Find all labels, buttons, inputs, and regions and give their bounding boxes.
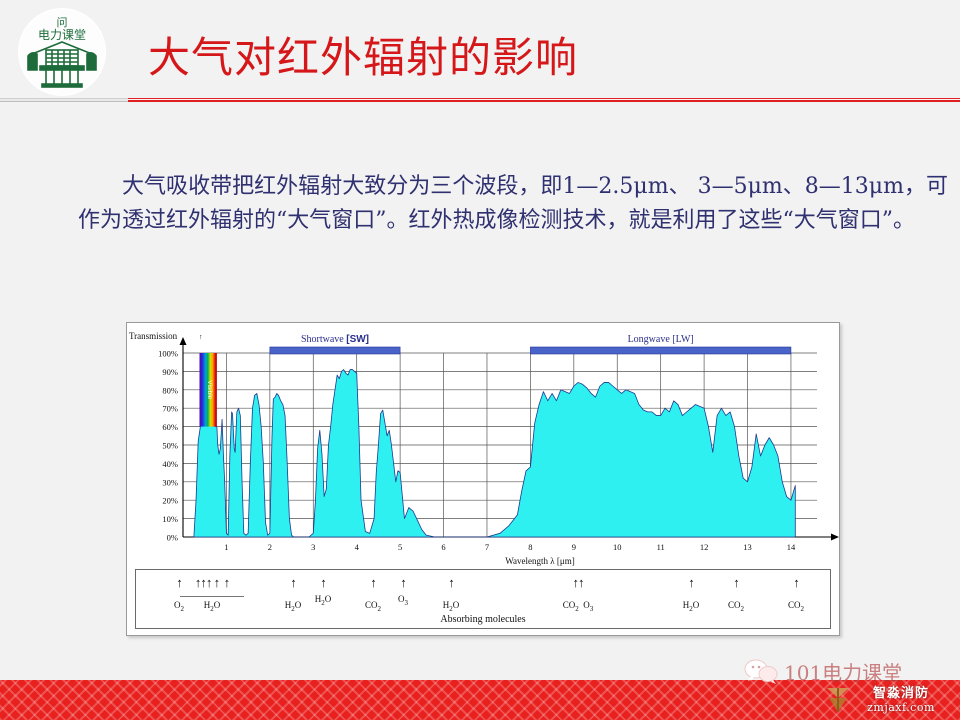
molecule-label: CO2 [721, 600, 751, 615]
body-paragraph: 大气吸收带把红外辐射大致分为三个波段，即1—2.5μm、 3—5μm、8—13μ… [78, 170, 948, 238]
transmission-chart-svg: 0%10%20%30%40%50%60%70%80%90%100%1234567… [127, 323, 839, 571]
arrow-icon: ↑ [721, 576, 751, 589]
atmospheric-transmission-figure: 0%10%20%30%40%50%60%70%80%90%100%1234567… [126, 322, 840, 636]
svg-text:70%: 70% [162, 404, 178, 414]
svg-text:2: 2 [268, 542, 272, 552]
svg-text:40%: 40% [162, 459, 178, 469]
svg-text:3: 3 [311, 542, 315, 552]
molecule-label: H2O [308, 594, 338, 609]
svg-text:14: 14 [787, 542, 796, 552]
molecule-label: H2O [278, 600, 308, 615]
page-title: 大气对红外辐射的影响 [148, 34, 578, 82]
molecule-label: H2O [182, 600, 242, 615]
arrow-icon: ↑ [781, 576, 811, 589]
molecule-label: CO2 O3 [556, 600, 600, 615]
molecule-marker-co2-3: ↑ CO2 [781, 576, 811, 615]
arrow-icon: ↑ [388, 576, 418, 589]
molecule-marker-h2o-3: ↑ H2O [308, 576, 338, 609]
svg-text:4: 4 [355, 542, 360, 552]
svg-text:12: 12 [700, 542, 709, 552]
molecule-marker-co2-2: ↑ CO2 [721, 576, 751, 615]
molecule-marker-o3-1: ↑ O3 [388, 576, 418, 609]
slide-header: 问 电力课堂 大气对红外辐射的影响 [0, 0, 960, 104]
svg-text:6: 6 [441, 542, 445, 552]
svg-text:Visible: Visible [206, 380, 213, 399]
molecule-marker-h2o-5: ↑ H2O [676, 576, 706, 615]
absorbing-molecules-caption: Absorbing molecules [136, 614, 830, 625]
svg-text:30%: 30% [162, 477, 178, 487]
absorbing-molecules-box: Absorbing molecules ↑ O2 ↑↑↑ ↑ ↑ H2O ↑ H… [135, 569, 831, 629]
svg-text:80%: 80% [162, 385, 178, 395]
arrow-icon: ↑ [436, 576, 466, 589]
arrow-icon: ↑↑↑ ↑ ↑ [182, 576, 242, 589]
svg-text:7: 7 [485, 542, 489, 552]
molecule-marker-h2o-group: ↑↑↑ ↑ ↑ H2O [182, 576, 242, 615]
arrow-icon: ↑ [278, 576, 308, 589]
arrow-icon: ↑↑ [556, 576, 600, 589]
institution-logo: 问 电力课堂 [12, 6, 112, 98]
molecule-label: CO2 [781, 600, 811, 615]
arrow-icon: ↑ [308, 576, 338, 589]
svg-text:10: 10 [613, 542, 622, 552]
svg-text:Longwave [LW]: Longwave [LW] [628, 334, 694, 345]
molecule-label: CO2 [358, 600, 388, 615]
watermark-url: zmjaxf.com [845, 701, 957, 714]
svg-text:90%: 90% [162, 367, 178, 377]
svg-text:5: 5 [398, 542, 402, 552]
molecule-marker-co2-1: ↑ CO2 [358, 576, 388, 615]
svg-text:11: 11 [657, 542, 665, 552]
molecule-marker-h2o-4: ↑ H2O [436, 576, 466, 615]
svg-text:9: 9 [572, 542, 576, 552]
molecule-label: O3 [388, 594, 418, 609]
svg-text:Shortwave [SW]: Shortwave [SW] [301, 334, 369, 345]
arrow-icon: ↑ [676, 576, 706, 589]
svg-text:100%: 100% [158, 349, 178, 359]
header-divider-red [128, 98, 960, 102]
transmission-chart: 0%10%20%30%40%50%60%70%80%90%100%1234567… [127, 323, 839, 571]
svg-text:60%: 60% [162, 422, 178, 432]
svg-text:Wavelength λ [μm]: Wavelength λ [μm] [505, 556, 574, 566]
watermark-title: 智淼消防 [845, 682, 957, 701]
molecule-marker-co2-o3: ↑↑ CO2 O3 [556, 576, 600, 615]
paragraph-text: 大气吸收带把红外辐射大致分为三个波段，即1—2.5μm、 3—5μm、8—13μ… [78, 174, 948, 233]
svg-text:电力课堂: 电力课堂 [38, 28, 86, 42]
svg-text:13: 13 [743, 542, 752, 552]
arrow-icon: ↑ [358, 576, 388, 589]
svg-text:Transmission: Transmission [129, 331, 178, 341]
svg-text:10%: 10% [162, 514, 178, 524]
molecule-marker-h2o-2: ↑ H2O [278, 576, 308, 615]
svg-text:8: 8 [528, 542, 532, 552]
wechat-icon [744, 658, 778, 684]
svg-text:0%: 0% [167, 533, 178, 543]
watermark-logo-icon [823, 684, 853, 716]
site-watermark: 智淼消防 zmjaxf.com [845, 682, 957, 718]
svg-text:20%: 20% [162, 496, 178, 506]
molecule-label: H2O [676, 600, 706, 615]
svg-text:50%: 50% [162, 441, 178, 451]
svg-text:1: 1 [224, 542, 228, 552]
molecule-label: H2O [436, 600, 466, 615]
svg-text:↑: ↑ [199, 333, 203, 341]
